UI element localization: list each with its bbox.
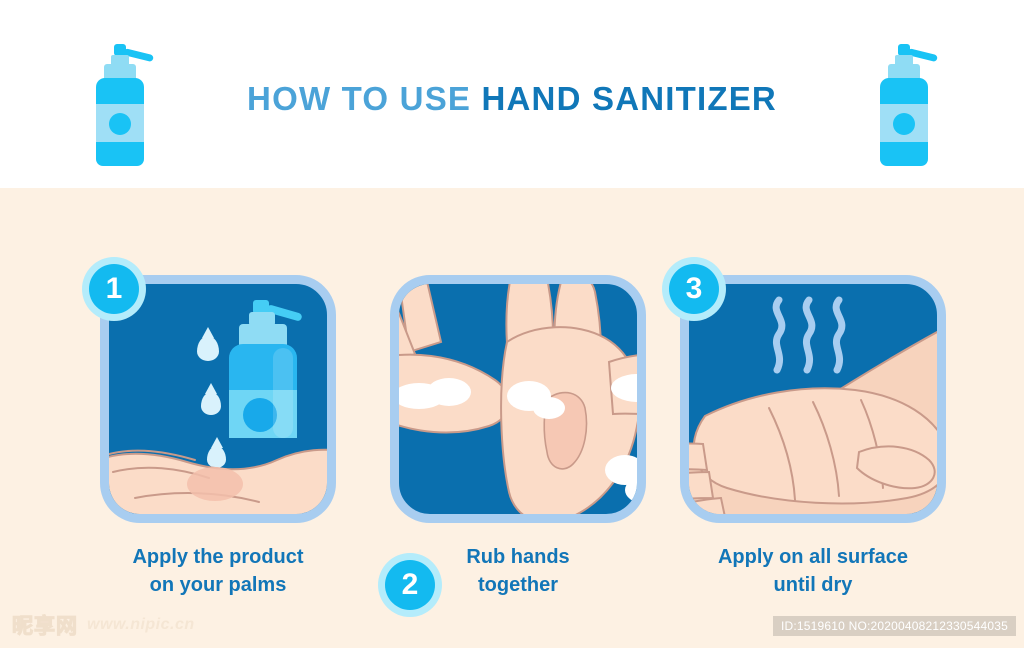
page-title-part-1: HOW TO USE: [247, 80, 481, 117]
infographic-page: HOW TO USE HAND SANITIZER: [0, 0, 1024, 648]
header-banner: HOW TO USE HAND SANITIZER: [0, 0, 1024, 188]
step-3-illustration-card: [680, 275, 946, 523]
asset-id-label: ID:1519610 NO:20200408212330544035: [773, 616, 1016, 636]
step-card-3: 3 Apply on all surface until dry: [680, 275, 946, 599]
step-number-1: 1: [89, 264, 139, 314]
bottle-label-dot: [893, 113, 915, 135]
step-1-caption-line-1: Apply the product: [100, 544, 336, 572]
step-number-badge-1: 1: [82, 257, 146, 321]
step-1-caption-line-2: on your palms: [100, 572, 336, 600]
step-card-2: 2 Rub hands together: [390, 275, 646, 599]
steps-section: 1 Apply the product on your palms: [0, 188, 1024, 648]
site-watermark: 昵享网 www.nipic.cn: [12, 612, 195, 638]
rubbing-hands-illustration: [390, 275, 646, 523]
step-3-caption-line-1: Apply on all surface: [680, 544, 946, 572]
step-number-3: 3: [669, 264, 719, 314]
page-title-part-2: HAND SANITIZER: [481, 80, 776, 117]
step-3-caption-line-2: until dry: [680, 572, 946, 600]
step-number-badge-2: 2: [378, 553, 442, 617]
step-2-illustration-card: [390, 275, 646, 523]
step-number-badge-3: 3: [662, 257, 726, 321]
watermark-logo-text: 昵享网: [12, 610, 78, 640]
watermark-url: www.nipic.cn: [87, 616, 195, 634]
sanitizer-bottle-right-icon: [868, 36, 940, 166]
step-1-caption: Apply the product on your palms: [100, 544, 336, 599]
step-number-2: 2: [385, 560, 435, 610]
step-card-1: 1 Apply the product on your palms: [100, 275, 336, 599]
sanitizer-drop-icon: [197, 336, 219, 361]
hands-drying-illustration: [680, 276, 946, 523]
open-palm-illustration: [100, 410, 336, 520]
step-3-caption: Apply on all surface until dry: [680, 544, 946, 599]
